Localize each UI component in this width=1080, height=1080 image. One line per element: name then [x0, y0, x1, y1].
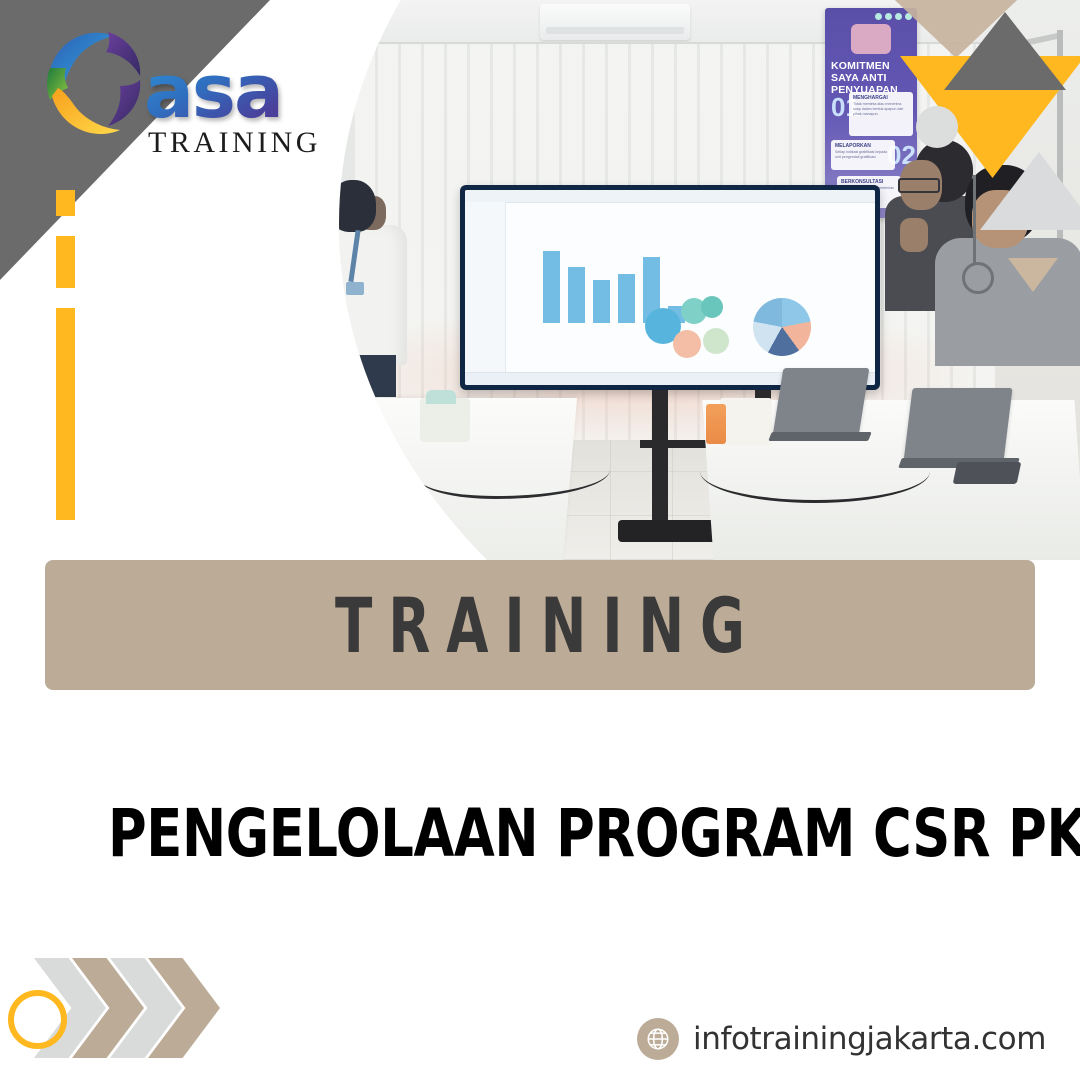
screen-pie-chart: [753, 298, 811, 356]
bubble-4: [703, 328, 729, 354]
logo-wordmark: asa TRAINING: [144, 60, 321, 160]
laptop-1-screen: [773, 368, 870, 436]
cable-right: [700, 440, 930, 503]
chart-bar: [593, 280, 610, 323]
poster-card-1: MENGHARGAI Tidak meminta atau menerima s…: [849, 92, 913, 136]
screen-toolbar: [465, 190, 875, 203]
participant-1-hand: [900, 218, 928, 252]
circular-swirl-logo-icon: [36, 22, 161, 147]
poster-item-heading-1: MENGHARGAI: [853, 95, 909, 101]
yellow-bar-1: [56, 190, 75, 216]
display-stand-left: [652, 390, 668, 538]
poster-title: KOMITMEN SAYA ANTI PENYUAPAN: [831, 60, 917, 96]
display-screen: [465, 190, 875, 385]
presenter-arm: [308, 250, 332, 365]
chart-bar: [543, 251, 560, 323]
air-conditioner-icon: [540, 4, 690, 40]
yellow-bar-2: [56, 236, 75, 288]
bubble-3: [673, 330, 701, 358]
screen-sidebar: [465, 202, 506, 373]
participant-2-body: [935, 238, 1080, 366]
logo-name: asa: [144, 60, 321, 124]
poster-item-body-1: Tidak meminta atau menerima suap dalam b…: [853, 102, 909, 117]
training-banner: TRAINING: [45, 560, 1035, 690]
ring-outline-gray-icon: [962, 262, 994, 294]
training-banner-label: TRAINING: [184, 560, 897, 690]
poster-item-heading-2: MELAPORKAN: [835, 143, 891, 149]
presenter-badge: [346, 282, 364, 295]
presenter-head: [330, 180, 376, 232]
presenter-watch: [324, 340, 344, 352]
footer-website[interactable]: infotrainingjakarta.com: [637, 1018, 1046, 1060]
smartphone: [953, 462, 1022, 484]
poster-item-body-2: Setiap indikasi gratifikasi kepada unit …: [835, 150, 891, 160]
ring-outline-yellow-icon: [8, 990, 67, 1049]
poster-illustration: [851, 24, 891, 54]
chart-bar: [618, 274, 635, 323]
presenter-legs: [326, 355, 396, 397]
presenter-body: [312, 225, 407, 365]
circle-light-gray-icon: [916, 106, 958, 148]
bubble-5: [701, 296, 723, 318]
participant-1-glasses-icon: [898, 178, 940, 193]
presentation-display: [460, 185, 880, 390]
poster-canvas: KOMITMEN SAYA ANTI PENYUAPAN 01 MENGHARG…: [0, 0, 1080, 1080]
website-url: infotrainingjakarta.com: [693, 1021, 1046, 1057]
yellow-bar-3: [56, 308, 75, 520]
globe-icon: [637, 1018, 679, 1060]
brand-logo[interactable]: asa TRAINING: [36, 22, 366, 172]
page-title: PENGELOLAAN PROGRAM CSR PKBL: [108, 795, 972, 872]
hanging-line: [973, 175, 976, 265]
tissue-box-right: [720, 398, 772, 446]
chart-bar: [568, 267, 585, 323]
tissue-box-left: [420, 398, 470, 442]
poster-dots-icon: [875, 13, 912, 20]
poster-card-2: MELAPORKAN Setiap indikasi gratifikasi k…: [831, 140, 895, 170]
